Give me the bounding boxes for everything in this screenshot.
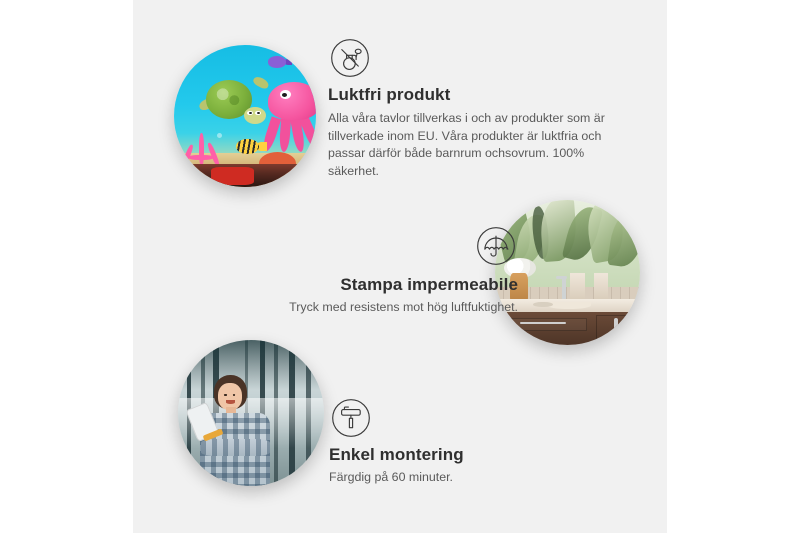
fish-illustration	[268, 56, 286, 67]
feature-title: Enkel montering	[329, 445, 619, 465]
content-panel: Luktfri produkt Alla våra tavlor tillver…	[133, 0, 667, 533]
no-fragrance-icon	[330, 38, 370, 78]
mural-room-strip	[174, 164, 316, 187]
eye	[224, 394, 227, 396]
folded-arms	[201, 439, 269, 456]
feature-block-waterproof: Stampa impermeabile Tryck med resistens …	[188, 226, 518, 317]
door-handle	[614, 318, 618, 336]
vanity-cabinet	[504, 312, 640, 345]
cabinet-drawer	[509, 318, 587, 331]
paint-roller-icon	[331, 398, 371, 438]
octopus-arm	[278, 117, 290, 153]
woman-with-roller-forest-disc	[178, 340, 324, 486]
octopus-illustration	[262, 82, 316, 150]
woman-figure	[198, 375, 274, 486]
feature-block-easy-install: Enkel montering Färgdig på 60 minuter.	[329, 398, 619, 487]
underwater-artwork	[174, 45, 316, 187]
eye	[233, 394, 236, 396]
red-furniture	[211, 167, 254, 185]
feature-title: Stampa impermeabile	[188, 275, 518, 295]
turtle-illustration	[198, 76, 263, 127]
umbrella-icon	[476, 226, 516, 266]
turtle-eye	[247, 111, 253, 116]
feature-block-odourless: Luktfri produkt Alla våra tavlor tillver…	[328, 38, 628, 180]
drawer-pull	[520, 322, 566, 324]
feature-description: Tryck med resistens mot hög luftfuktighe…	[188, 299, 518, 317]
forest-artwork	[178, 340, 324, 486]
fish-body	[268, 56, 286, 67]
smile	[226, 400, 235, 403]
feature-title: Luktfri produkt	[328, 85, 628, 105]
sink-basin	[547, 302, 591, 309]
fish-illustration	[236, 139, 259, 155]
underwater-kids-mural-disc	[174, 45, 316, 187]
screenshot-root: Luktfri produkt Alla våra tavlor tillver…	[0, 0, 800, 533]
turtle-eye	[255, 111, 261, 116]
fish-body	[236, 139, 259, 155]
octopus-eye	[280, 90, 291, 100]
feature-description: Alla våra tavlor tillverkas i och av pro…	[328, 110, 628, 180]
feature-description: Färgdig på 60 minuter.	[329, 469, 619, 487]
octopus-head	[268, 82, 316, 120]
